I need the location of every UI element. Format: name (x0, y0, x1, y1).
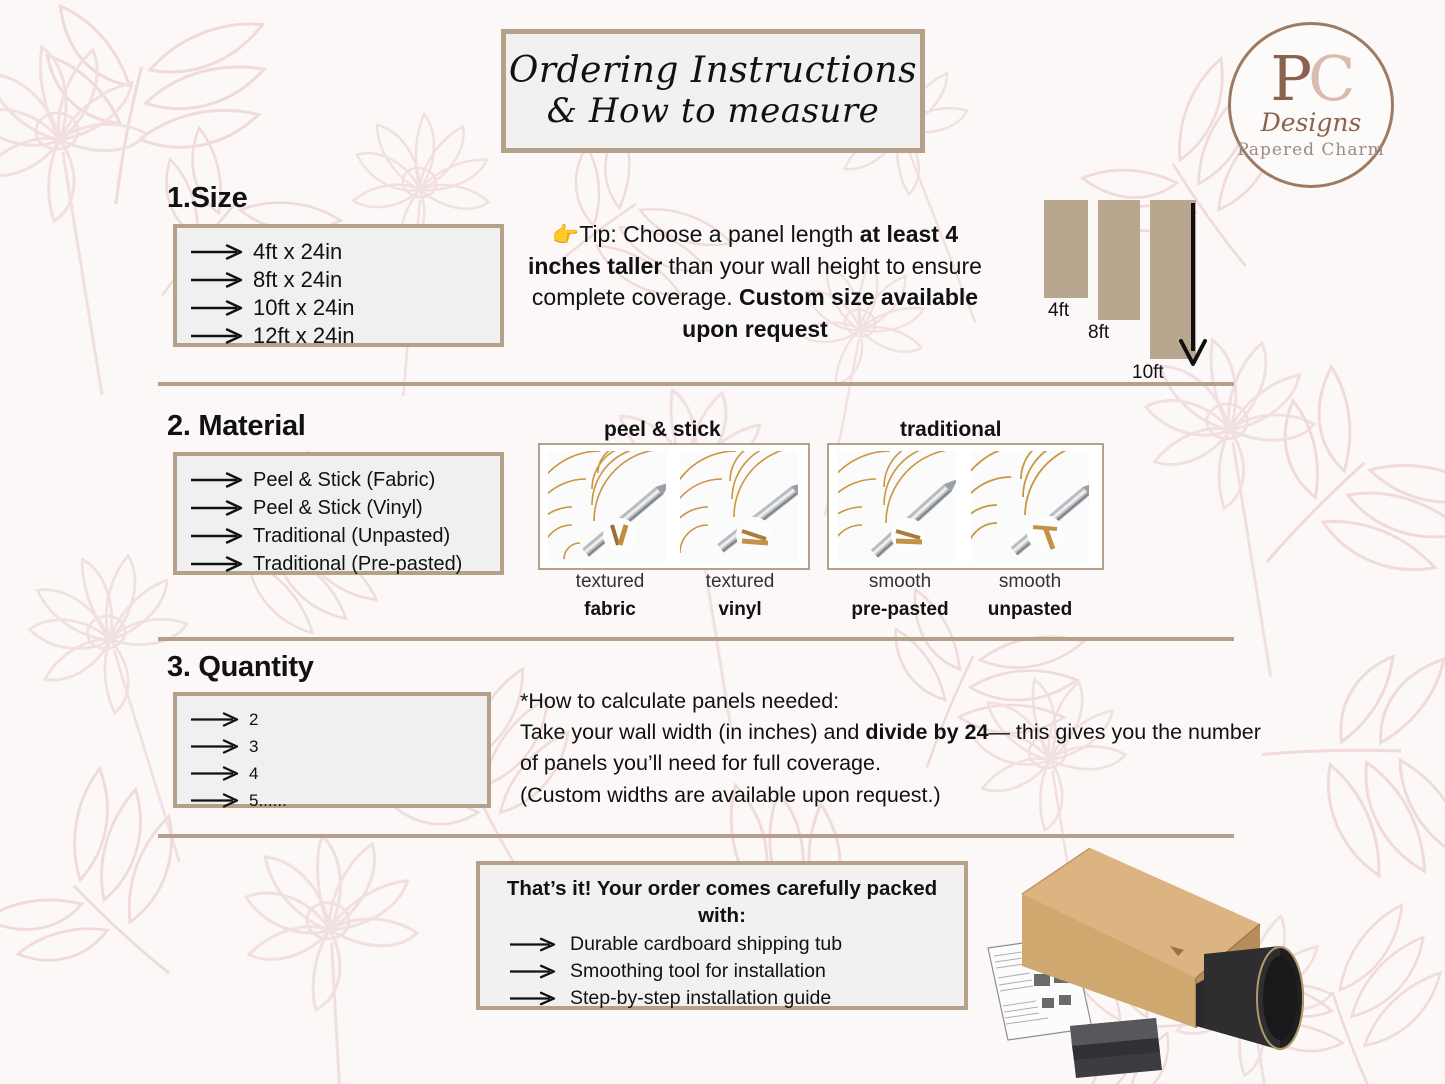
packing-item-label: Smoothing tool for installation (570, 960, 826, 983)
material-option-label: Peel & Stick (Vinyl) (253, 497, 423, 520)
arrow-right-icon (189, 739, 241, 754)
calc-line-4: (Custom widths are available upon reques… (520, 780, 1400, 811)
logo-monogram: PC (1236, 48, 1386, 110)
quantity-option-label: 5...... (249, 791, 287, 811)
logo-monogram-p: P (1270, 42, 1308, 115)
page-title-line-2: & How to measure (547, 94, 879, 130)
panel-bar-label-8ft: 8ft (1088, 322, 1109, 344)
swatch-caption-bottom: fabric (545, 596, 675, 624)
logo-script-text: Designs (1236, 108, 1386, 137)
down-arrow-icon (1176, 201, 1210, 373)
arrow-right-icon (189, 712, 241, 727)
quantity-options-box: 2 3 4 5...... (173, 692, 491, 808)
arrow-right-icon (189, 793, 241, 808)
swatch-caption-fabric: textured fabric (545, 568, 675, 623)
logo-brand-name: Papered Charm (1236, 140, 1386, 160)
material-group-title-peel-stick: peel & stick (604, 418, 721, 442)
size-tip-text: 👉Tip: Choose a panel length at least 4 i… (520, 219, 990, 345)
smoothing-tool-icon (1070, 1018, 1162, 1078)
swatch-caption-unpasted: smooth unpasted (965, 568, 1095, 623)
material-option-row[interactable]: Traditional (Unpasted) (177, 522, 500, 550)
section-divider (158, 382, 1234, 386)
wallpaper-sample-photo-fabric (548, 451, 666, 562)
swatch-caption-top: textured (706, 571, 775, 592)
calc-line-3: of panels you’ll need for full coverage. (520, 748, 1400, 779)
material-option-label: Traditional (Unpasted) (253, 525, 450, 548)
wallpaper-sample-photo-unpasted (971, 451, 1089, 562)
swatch-caption-bottom: pre-pasted (835, 596, 965, 624)
wallpaper-sample-photo-pre-pasted (838, 451, 956, 562)
arrow-right-icon (189, 528, 245, 544)
size-options-box: 4ft x 24in 8ft x 24in 10ft x 24in 12ft x… (173, 224, 504, 347)
arrow-right-icon (189, 500, 245, 516)
calc-line-2a: Take your wall width (in inches) and (520, 720, 865, 744)
panel-bar-label-10ft: 10ft (1132, 362, 1164, 384)
panel-length-diagram: 4ft 8ft 10ft (1044, 200, 1254, 390)
black-shipping-tube-icon (1196, 946, 1304, 1050)
swatch-caption-bottom: unpasted (965, 596, 1095, 624)
swatch-caption-top: smooth (869, 571, 931, 592)
material-group-title-traditional: traditional (900, 418, 1002, 442)
arrow-right-icon (189, 300, 245, 316)
quantity-option-label: 2 (249, 710, 258, 730)
packing-item-label: Step-by-step installation guide (570, 987, 831, 1010)
swatch-caption-top: smooth (999, 571, 1061, 592)
brand-logo: PC Designs Papered Charm (1228, 22, 1394, 188)
arrow-right-icon (189, 766, 241, 781)
size-option-label: 8ft x 24in (253, 267, 342, 293)
wallpaper-sample-photo-vinyl (680, 451, 798, 562)
panel-bar-4ft (1044, 200, 1088, 298)
swatch-caption-top: textured (576, 571, 645, 592)
packing-item-label: Durable cardboard shipping tub (570, 933, 842, 956)
calc-line-2: Take your wall width (in inches) and div… (520, 717, 1400, 748)
size-option-row[interactable]: 12ft x 24in (177, 322, 500, 350)
material-option-label: Peel & Stick (Fabric) (253, 469, 435, 492)
section-divider (158, 637, 1234, 641)
logo-monogram-c: C (1308, 42, 1351, 115)
material-option-row[interactable]: Traditional (Pre-pasted) (177, 550, 500, 578)
size-option-row[interactable]: 4ft x 24in (177, 238, 500, 266)
quantity-option-row[interactable]: 2 (177, 706, 487, 733)
size-option-label: 12ft x 24in (253, 323, 355, 349)
swatch-caption-pre-pasted: smooth pre-pasted (835, 568, 965, 623)
section-heading-material: 2. Material (167, 410, 306, 443)
material-option-label: Traditional (Pre-pasted) (253, 553, 462, 576)
quantity-option-row[interactable]: 4 (177, 760, 487, 787)
size-option-label: 4ft x 24in (253, 239, 342, 265)
tip-part-1: Tip: Choose a panel length (579, 221, 859, 247)
packing-contents-box: That’s it! Your order comes carefully pa… (476, 861, 968, 1010)
material-option-row[interactable]: Peel & Stick (Vinyl) (177, 494, 500, 522)
quantity-option-row[interactable]: 5...... (177, 787, 487, 814)
material-option-row[interactable]: Peel & Stick (Fabric) (177, 466, 500, 494)
calc-line-2-bold: divide by 24 (865, 720, 988, 744)
arrow-right-icon (508, 991, 558, 1006)
calc-line-2c: — this gives you the number (988, 720, 1260, 744)
section-heading-quantity: 3. Quantity (167, 651, 314, 684)
swatch-caption-vinyl: textured vinyl (675, 568, 805, 623)
quantity-option-row[interactable]: 3 (177, 733, 487, 760)
arrow-right-icon (508, 964, 558, 979)
material-options-box: Peel & Stick (Fabric) Peel & Stick (Viny… (173, 452, 504, 575)
page-title-line-1: Ordering Instructions (509, 52, 917, 90)
calc-line-1: *How to calculate panels needed: (520, 686, 1400, 717)
quantity-calculation-text: *How to calculate panels needed: Take yo… (520, 686, 1400, 811)
swatch-caption-bottom: vinyl (675, 596, 805, 624)
size-option-label: 10ft x 24in (253, 295, 355, 321)
quantity-option-label: 4 (249, 764, 258, 784)
arrow-right-icon (189, 328, 245, 344)
page-title-box: Ordering Instructions & How to measure (501, 29, 925, 153)
packing-item-row: Step-by-step installation guide (480, 987, 964, 1010)
packing-item-row: Smoothing tool for installation (480, 960, 964, 983)
arrow-right-icon (508, 937, 558, 952)
arrow-right-icon (189, 244, 245, 260)
packing-contents-title: That’s it! Your order comes carefully pa… (480, 875, 964, 929)
arrow-right-icon (189, 272, 245, 288)
packing-item-row: Durable cardboard shipping tub (480, 933, 964, 956)
packaging-photo (960, 838, 1420, 1084)
tip-bold-1: at least (860, 221, 939, 247)
section-heading-size: 1.Size (167, 182, 247, 215)
pointing-finger-icon: 👉 (552, 222, 579, 247)
arrow-right-icon (189, 556, 245, 572)
panel-bar-label-4ft: 4ft (1048, 300, 1069, 322)
panel-bar-8ft (1098, 200, 1140, 320)
size-option-row[interactable]: 8ft x 24in (177, 266, 500, 294)
quantity-option-label: 3 (249, 737, 258, 757)
arrow-right-icon (189, 472, 245, 488)
size-option-row[interactable]: 10ft x 24in (177, 294, 500, 322)
